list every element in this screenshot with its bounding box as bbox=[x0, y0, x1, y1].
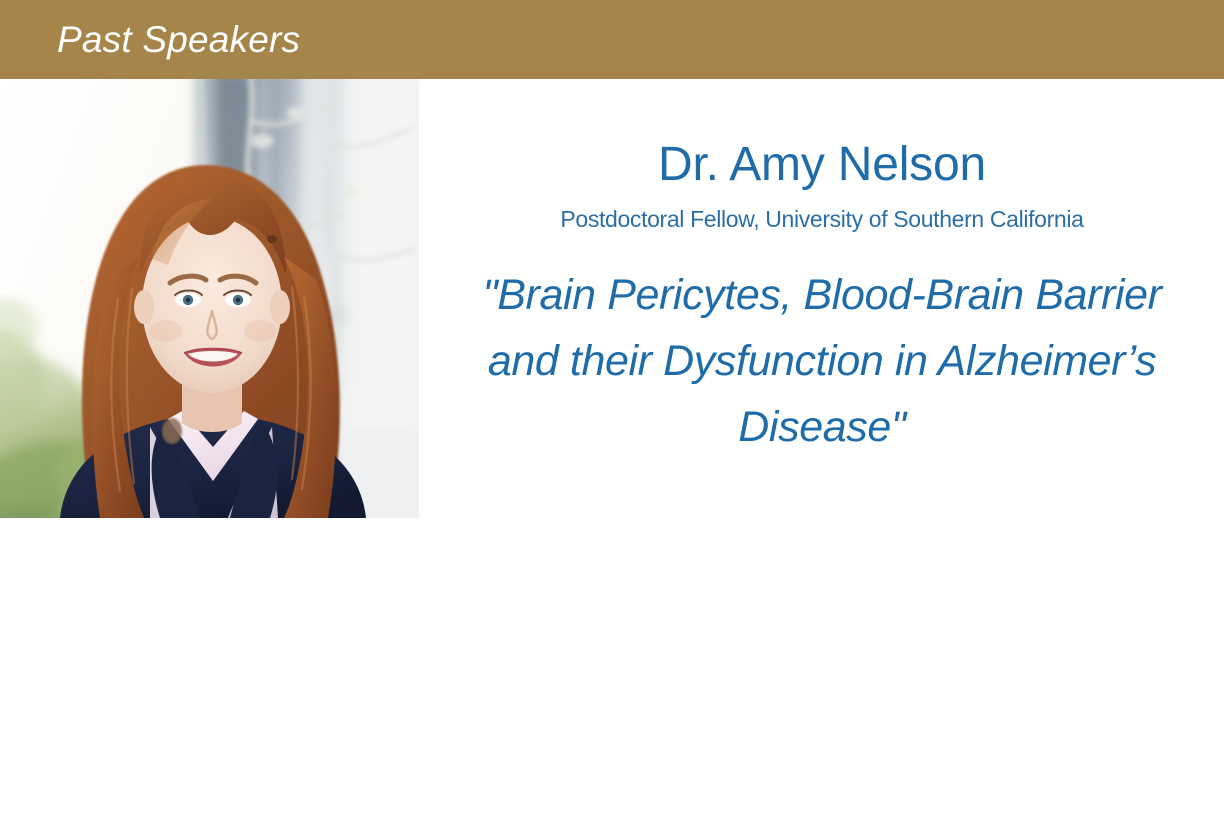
slide-root: Past Speakers bbox=[0, 0, 1224, 816]
speaker-name: Dr. Amy Nelson bbox=[420, 79, 1224, 193]
speaker-info-block: Dr. Amy Nelson Postdoctoral Fellow, Univ… bbox=[420, 79, 1224, 461]
talk-title: "Brain Pericytes, Blood-Brain Barrier an… bbox=[472, 233, 1172, 460]
page-header-banner: Past Speakers bbox=[0, 0, 1224, 79]
speaker-photo-image bbox=[0, 79, 419, 518]
speaker-affiliation: Postdoctoral Fellow, University of South… bbox=[420, 193, 1224, 234]
speaker-photo bbox=[0, 79, 419, 518]
banner-title: Past Speakers bbox=[57, 21, 300, 58]
